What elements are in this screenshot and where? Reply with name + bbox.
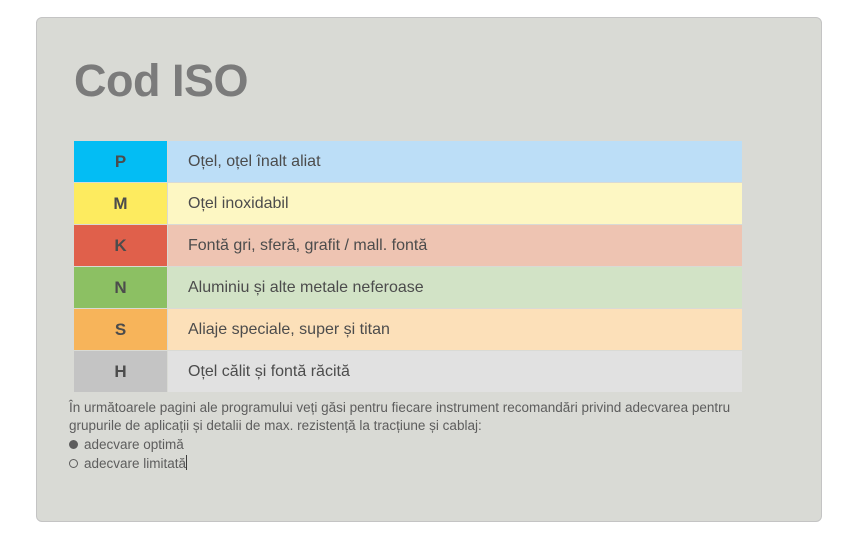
filled-circle-icon: [69, 440, 78, 449]
iso-code-badge: K: [74, 225, 167, 266]
table-row: HOțel călit și fontă răcită: [74, 351, 742, 392]
page-title: Cod ISO: [74, 58, 248, 103]
iso-code-badge: P: [74, 141, 167, 182]
table-row: SAliaje speciale, super și titan: [74, 309, 742, 350]
table-row: POțel, oțel înalt aliat: [74, 141, 742, 182]
text-cursor: [186, 455, 187, 470]
iso-code-description: Oțel călit și fontă răcită: [168, 351, 742, 392]
iso-code-badge: S: [74, 309, 167, 350]
iso-code-badge: N: [74, 267, 167, 308]
table-row: MOțel inoxidabil: [74, 183, 742, 224]
legend-item-label: adecvare optimă: [84, 436, 184, 454]
iso-code-description: Fontă gri, sferă, grafit / mall. fontă: [168, 225, 742, 266]
legend-item: adecvare optimă: [69, 436, 769, 454]
legend-item: adecvare limitată: [69, 455, 769, 473]
iso-code-description: Oțel inoxidabil: [168, 183, 742, 224]
hollow-circle-icon: [69, 459, 78, 468]
legend-item-label: adecvare limitată: [84, 455, 186, 473]
iso-code-badge: H: [74, 351, 167, 392]
iso-code-panel: Cod ISO POțel, oțel înalt aliatMOțel ino…: [36, 17, 822, 522]
iso-code-table: POțel, oțel înalt aliatMOțel inoxidabilK…: [74, 141, 742, 393]
table-row: KFontă gri, sferă, grafit / mall. fontă: [74, 225, 742, 266]
iso-code-description: Aluminiu și alte metale neferoase: [168, 267, 742, 308]
iso-code-description: Aliaje speciale, super și titan: [168, 309, 742, 350]
note-block: În următoarele pagini ale programului ve…: [69, 399, 769, 473]
iso-code-badge: M: [74, 183, 167, 224]
table-row: NAluminiu și alte metale neferoase: [74, 267, 742, 308]
note-paragraph: În următoarele pagini ale programului ve…: [69, 399, 769, 435]
legend-container: adecvare optimăadecvare limitată: [69, 436, 769, 473]
iso-code-description: Oțel, oțel înalt aliat: [168, 141, 742, 182]
